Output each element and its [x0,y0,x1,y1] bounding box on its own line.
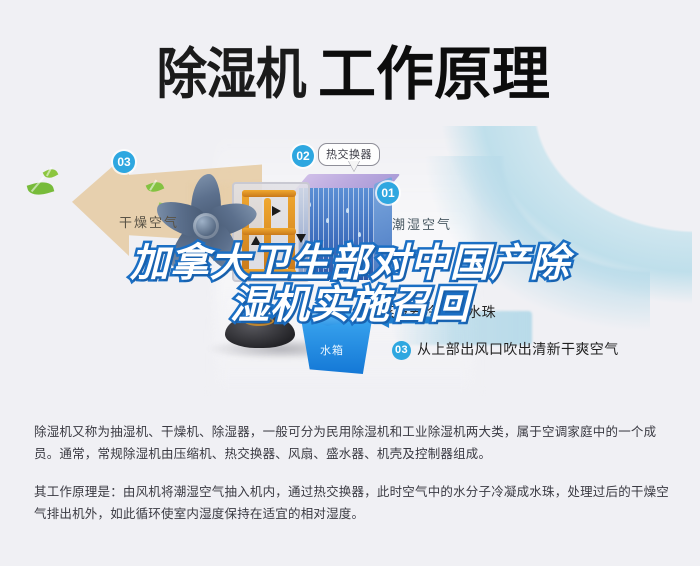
coil-pipe [264,198,271,272]
body-paragraph-2: 其工作原理是：由风机将潮湿空气抽入机内，通过热交换器，此时空气中的水分子冷凝成水… [34,481,670,525]
body-paragraph-1: 除湿机又称为抽湿机、干燥机、除湿器，一般可分为民用除湿机和工业除湿机两大类，属于… [34,421,670,465]
step-description-02: 经过蒸发器冷凝成水珠 [352,302,496,322]
flow-arrow-right-icon [272,206,281,216]
dry-air-label: 干燥空气 [119,212,179,231]
condensate-droplet [346,208,349,213]
article-body: 除湿机又称为抽湿机、干燥机、除湿器，一般可分为民用除湿机和工业除湿机两大类，属于… [34,421,670,525]
page-title-part-1: 除湿机 [156,29,305,109]
step-badge-01: 01 [377,182,399,204]
condensate-droplet [326,218,329,223]
step-badge-03: 03 [113,151,135,173]
condensate-droplet [358,232,361,237]
fan-hub [193,213,219,239]
step-badge-02: 02 [292,145,314,167]
water-tank-label: 水箱 [320,342,344,358]
infographic-page: 除湿机工作原理 [0,0,700,566]
page-title: 除湿机工作原理 [0,27,700,111]
condensate-droplet [338,250,341,255]
step-description-02-text: 经过蒸发器冷凝成水珠 [352,304,496,320]
compressor-ring [244,316,274,326]
leaf-icon [27,179,55,198]
condensate-droplet [356,268,359,273]
humid-air-label: 潮湿空气 [392,214,452,233]
page-title-part-2: 工作原理 [318,27,550,111]
step-description-03-text: 从上部出风口吹出清新干爽空气 [417,341,619,357]
flow-arrow-down-icon [296,234,306,243]
heat-exchanger-callout-stem [348,160,360,171]
condensate-droplet [324,264,327,269]
step-badge-03-inline: 03 [392,341,411,360]
condensate-droplet [314,240,317,245]
step-description-03: 03从上部出风口吹出清新干爽空气 [392,339,619,360]
leaf-icon [43,166,59,180]
